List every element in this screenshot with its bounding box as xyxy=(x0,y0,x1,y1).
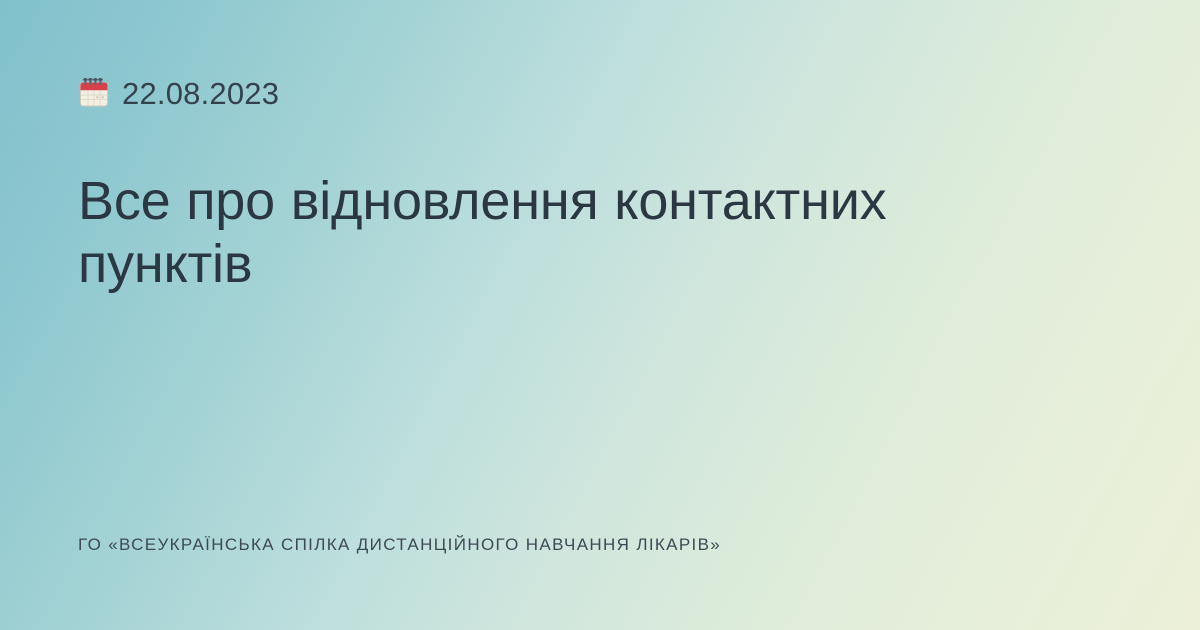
card-content: 22.08.2023 Все про відновлення контактни… xyxy=(0,0,1200,630)
article-preview-card: 22.08.2023 Все про відновлення контактни… xyxy=(0,0,1200,630)
publish-date: 22.08.2023 xyxy=(122,78,279,109)
page-title: Все про відновлення контактних пунктів xyxy=(78,170,1008,296)
calendar-icon xyxy=(78,77,110,109)
title-block: Все про відновлення контактних пунктів xyxy=(78,170,1008,296)
layout-spacer xyxy=(78,296,1120,534)
organization-name: ГО «ВСЕУКРАЇНСЬКА СПІЛКА ДИСТАНЦІЙНОГО Н… xyxy=(78,534,1120,576)
publish-date-row: 22.08.2023 xyxy=(78,72,1120,114)
